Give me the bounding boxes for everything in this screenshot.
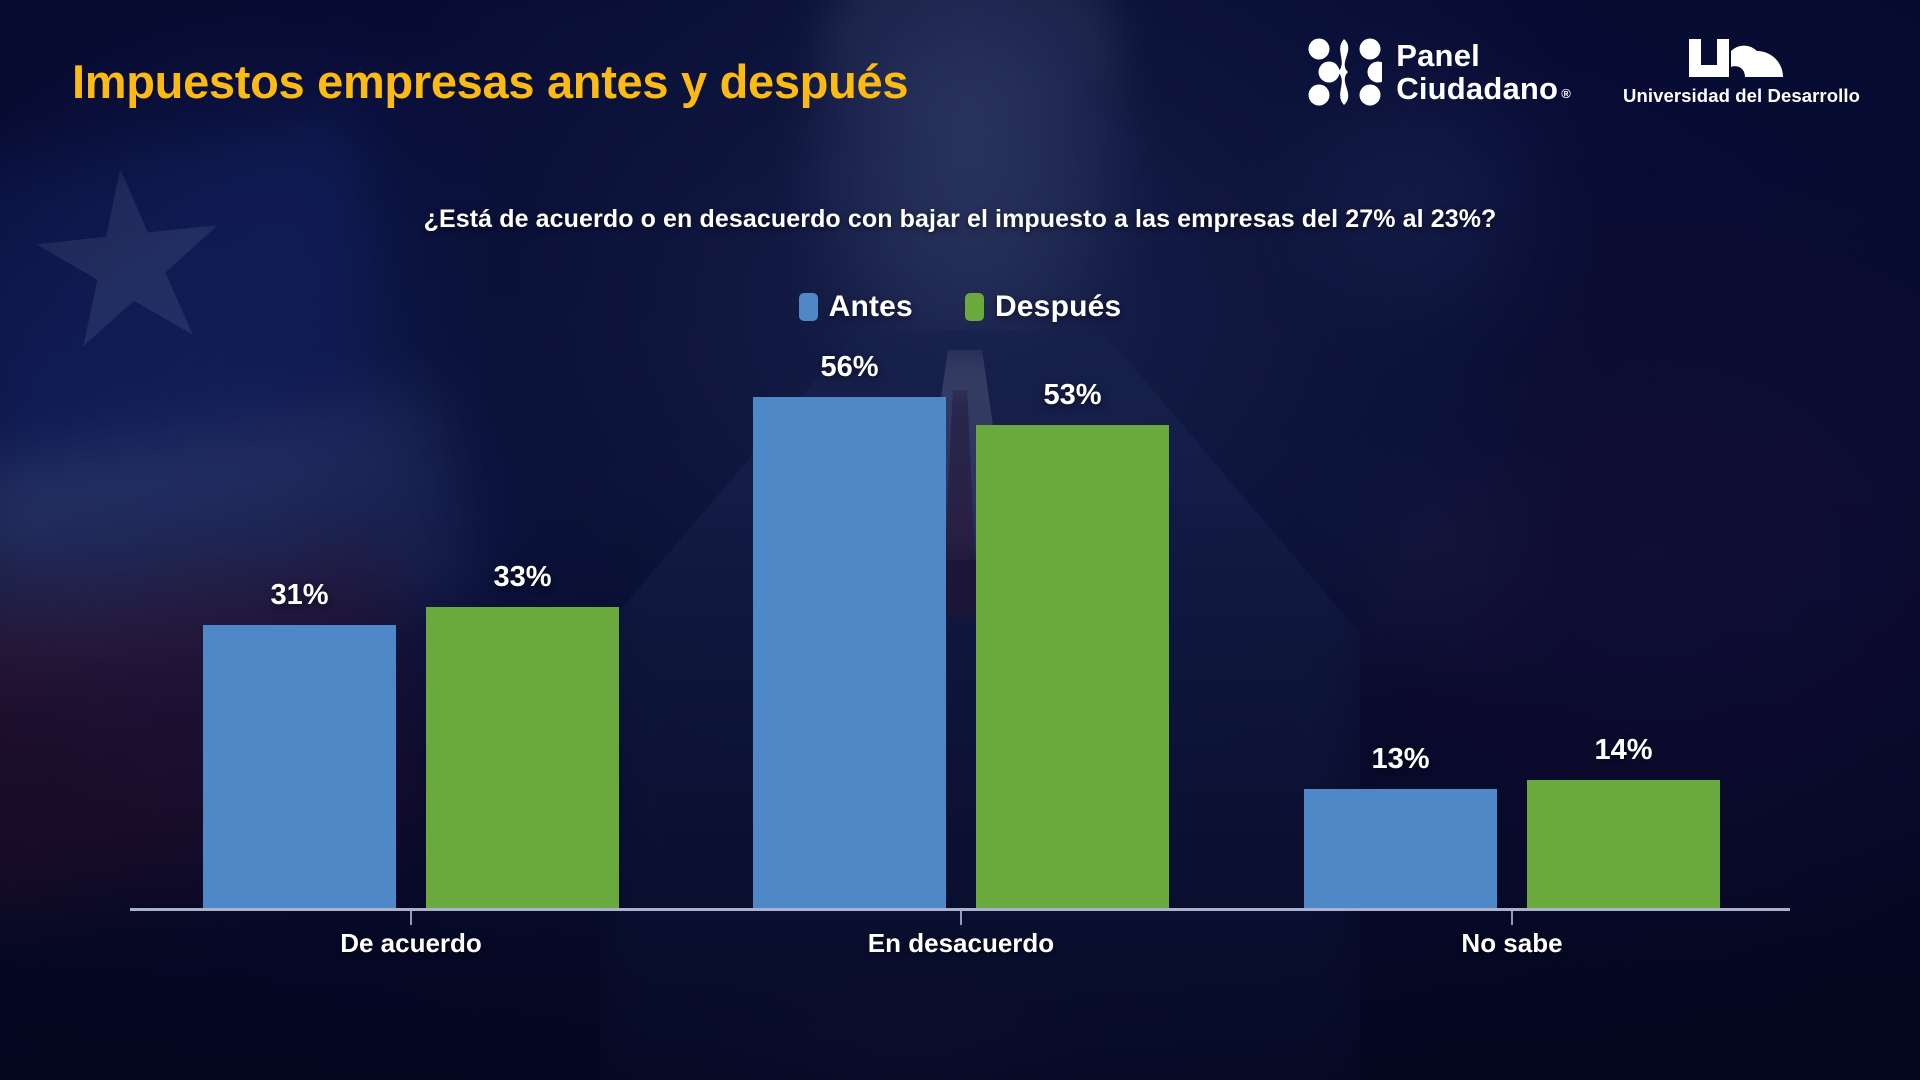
bar-value-label: 53% (976, 379, 1169, 412)
x-axis-category-label: En desacuerdo (711, 928, 1211, 959)
bar-antes-en-desacuerdo[interactable] (753, 397, 946, 908)
bar-despus-no-sabe[interactable] (1527, 780, 1720, 908)
x-axis-tick (410, 911, 412, 925)
x-axis-category-label: De acuerdo (161, 928, 661, 959)
bar-chart-plot: 31%33%De acuerdo56%53%En desacuerdo13%14… (0, 0, 1920, 1080)
bar-antes-no-sabe[interactable] (1304, 789, 1497, 908)
bar-value-label: 31% (203, 579, 396, 612)
bar-antes-de-acuerdo[interactable] (203, 625, 396, 908)
x-axis-tick (960, 911, 962, 925)
bar-value-label: 33% (426, 561, 619, 594)
bar-value-label: 56% (753, 351, 946, 384)
bar-despus-de-acuerdo[interactable] (426, 607, 619, 908)
bar-value-label: 13% (1304, 743, 1497, 776)
bar-despus-en-desacuerdo[interactable] (976, 425, 1169, 908)
slide-root: Impuestos empresas antes y después Panel… (0, 0, 1920, 1080)
x-axis-tick (1511, 911, 1513, 925)
bar-value-label: 14% (1527, 734, 1720, 767)
x-axis-category-label: No sabe (1262, 928, 1762, 959)
